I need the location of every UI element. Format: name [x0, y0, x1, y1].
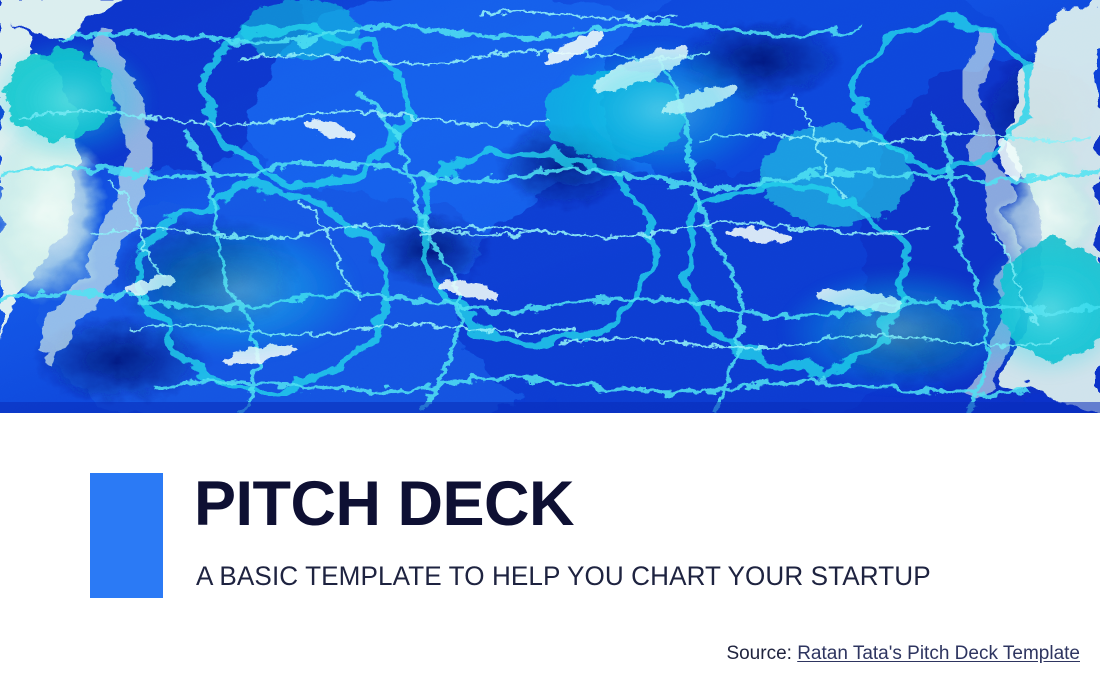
- page-title: PITCH DECK: [194, 472, 574, 536]
- source-prefix-label: Source:: [726, 643, 797, 664]
- source-link[interactable]: Ratan Tata's Pitch Deck Template: [797, 643, 1080, 664]
- source-attribution: Source: Ratan Tata's Pitch Deck Template: [726, 643, 1080, 666]
- hero-artwork: [0, 0, 1100, 413]
- fluid-art-graphic: [0, 0, 1100, 413]
- pitch-deck-slide: PITCH DECK A BASIC TEMPLATE TO HELP YOU …: [0, 0, 1100, 688]
- page-subtitle: A BASIC TEMPLATE TO HELP YOU CHART YOUR …: [196, 561, 931, 591]
- accent-bar: [90, 473, 163, 598]
